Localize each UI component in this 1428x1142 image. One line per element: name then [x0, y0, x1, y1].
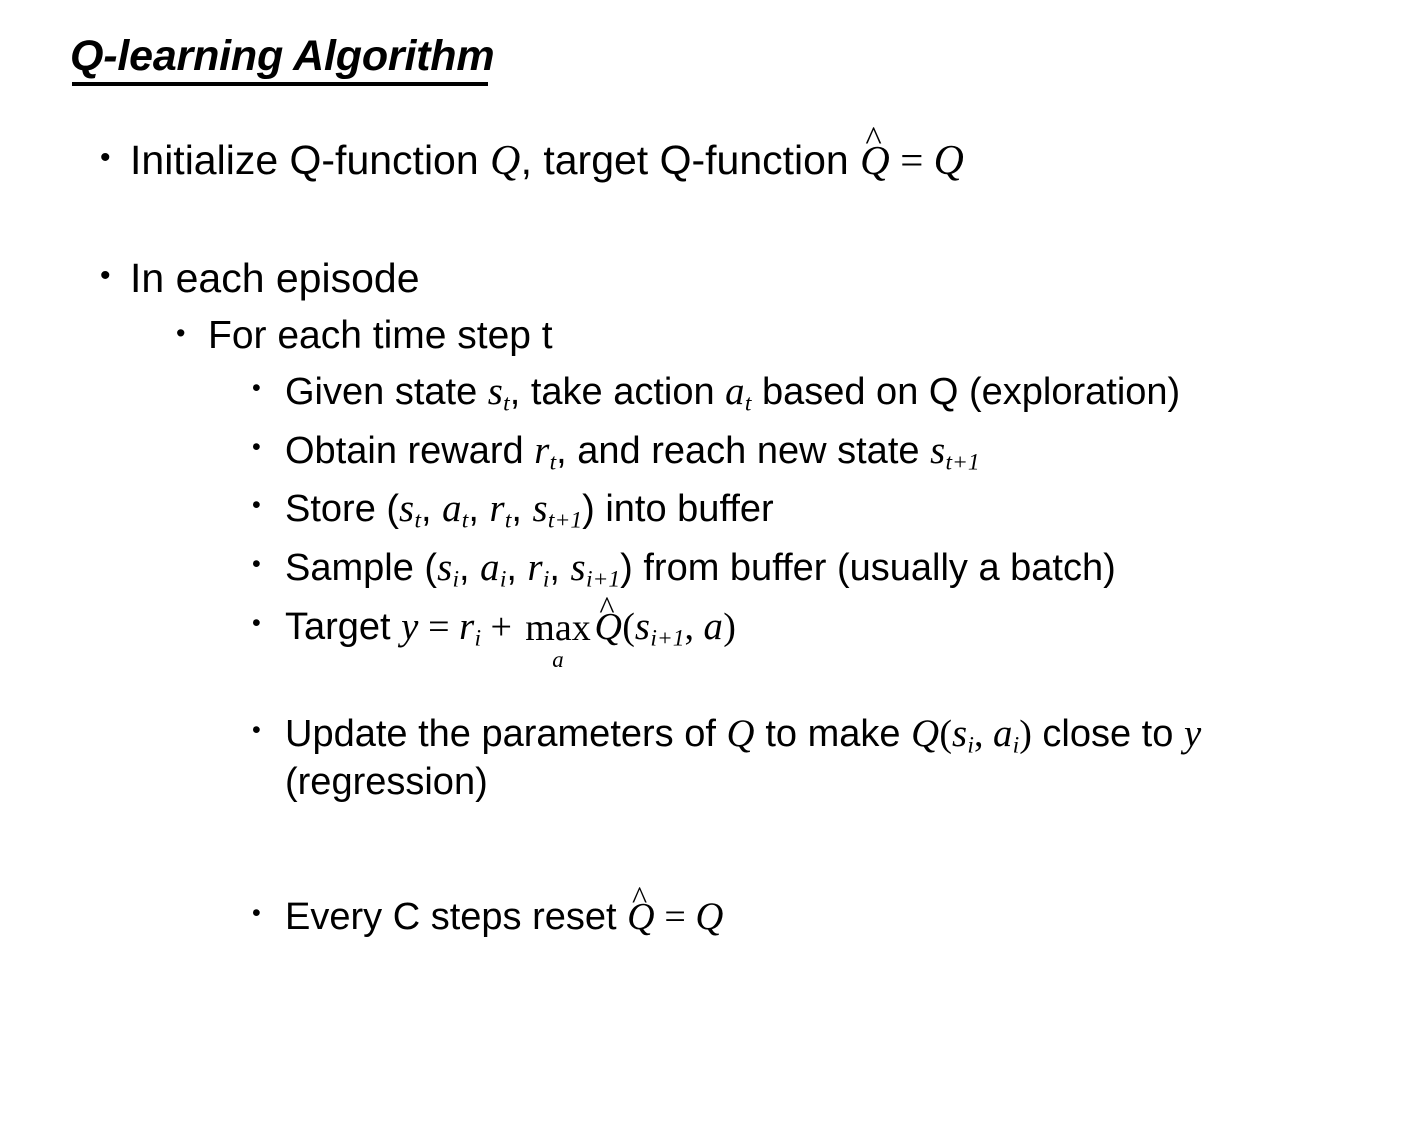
math-paren-close: ) [1019, 713, 1032, 755]
math-q-rhs: Q [934, 138, 965, 184]
text-run: , [549, 547, 570, 589]
bullet-glyph-icon: • [252, 545, 285, 584]
spacer [0, 806, 1428, 894]
bullet-store-text: Store (st, at, rt, st+1) into buffer [285, 486, 1395, 535]
spacer [0, 359, 1428, 369]
text-run: Sample ( [285, 547, 437, 589]
math-s1: s [437, 546, 452, 589]
math-s2-subscript: i+1 [586, 567, 620, 593]
math-comma: , [974, 713, 993, 755]
text-run: , take action [510, 371, 725, 413]
text-run: Every C steps reset [285, 896, 627, 938]
bullet-initialize: • Initialize Q-function Q, target Q-func… [0, 136, 1428, 186]
math-paren-open: ( [939, 713, 952, 755]
hat-accent-icon: ^ [865, 122, 882, 157]
math-paren-open: ( [622, 606, 635, 648]
bullet-target: • Target y = ri + maxa^Q(si+1, a) [0, 604, 1428, 671]
text-run: , [511, 488, 532, 530]
spacer [0, 476, 1428, 486]
bullet-store: • Store (st, at, rt, st+1) into buffer [0, 486, 1428, 535]
math-s-subscript: i+1 [650, 626, 684, 652]
math-y: y [401, 605, 419, 648]
spacer [0, 186, 1428, 254]
bullet-update-parameters-text: Update the parameters of Q to make Q(si,… [285, 711, 1395, 805]
math-s: s [635, 605, 650, 648]
spacer [0, 303, 1428, 313]
math-s-subscript: t+1 [945, 449, 979, 475]
math-max-subscript: a [552, 649, 563, 672]
text-run: based on Q (exploration) [751, 371, 1180, 413]
math-equals: = [890, 137, 934, 183]
bullet-initialize-text: Initialize Q-function Q, target Q-functi… [130, 136, 1428, 186]
bullet-glyph-icon: • [176, 313, 208, 354]
bullet-glyph-icon: • [100, 136, 130, 180]
text-run: ) into buffer [582, 488, 774, 530]
math-max-word: max [525, 609, 590, 647]
title-underline [72, 82, 488, 86]
text-run: Update the parameters of [285, 713, 726, 755]
math-s: s [930, 429, 945, 472]
bullet-target-text: Target y = ri + maxa^Q(si+1, a) [285, 604, 1395, 671]
bullet-obtain-reward-text: Obtain reward rt, and reach new state st… [285, 428, 1395, 477]
bullet-every-c-steps-text: Every C steps reset ^Q = Q [285, 894, 1395, 941]
spacer [0, 535, 1428, 545]
bullet-sample: • Sample (si, ai, ri, si+1) from buffer … [0, 545, 1428, 594]
slide-body: • Initialize Q-function Q, target Q-func… [0, 136, 1428, 940]
bullet-glyph-icon: • [252, 894, 285, 933]
bullet-sample-text: Sample (si, ai, ri, si+1) from buffer (u… [285, 545, 1395, 594]
slide-canvas: Q-learning Algorithm • Initialize Q-func… [0, 0, 1428, 1142]
text-run: , target Q-function [521, 137, 861, 183]
math-a: a [725, 370, 745, 413]
text-run: , [506, 547, 527, 589]
math-a: a [704, 605, 724, 648]
math-paren-close: ) [723, 606, 736, 648]
text-run: to make [755, 713, 911, 755]
text-run: Store ( [285, 488, 399, 530]
math-a1: a [480, 546, 500, 589]
math-q1: Q [726, 712, 754, 755]
math-a1: a [442, 487, 462, 530]
math-max-operator: maxa [525, 609, 590, 672]
math-q-hat: ^Q [595, 605, 623, 651]
spacer [0, 594, 1428, 604]
bullet-glyph-icon: • [252, 486, 285, 525]
hat-accent-icon: ^ [599, 592, 614, 624]
math-r: r [459, 605, 474, 648]
text-run: close to [1032, 713, 1184, 755]
bullet-for-each-time-step-text: For each time step t [208, 313, 1428, 359]
bullet-in-each-episode: • In each episode [0, 254, 1428, 302]
text-run: , [468, 488, 489, 530]
text-run: Initialize Q-function [130, 137, 490, 183]
text-run: , and reach new state [556, 430, 930, 472]
text-run: Target [285, 606, 401, 648]
text-run: , [459, 547, 480, 589]
math-s1: s [399, 487, 414, 530]
math-q: Q [490, 138, 521, 184]
math-comma: , [685, 606, 704, 648]
math-y: y [1184, 712, 1202, 755]
bullet-every-c-steps: • Every C steps reset ^Q = Q [0, 894, 1428, 941]
math-r1: r [489, 487, 504, 530]
bullet-update-parameters: • Update the parameters of Q to make Q(s… [0, 711, 1428, 805]
math-equals: = [655, 896, 695, 938]
spacer [0, 671, 1428, 711]
bullet-for-each-time-step: • For each time step t [0, 313, 1428, 359]
hat-accent-icon: ^ [632, 882, 647, 914]
math-s2: s [533, 487, 548, 530]
math-r1: r [527, 546, 542, 589]
text-run: Obtain reward [285, 430, 534, 472]
bullet-glyph-icon: • [252, 369, 285, 408]
math-s2: s [571, 546, 586, 589]
math-q-rhs: Q [695, 895, 723, 938]
bullet-glyph-icon: • [252, 428, 285, 467]
bullet-glyph-icon: • [100, 254, 130, 298]
math-s: s [952, 712, 967, 755]
bullet-given-state-text: Given state st, take action at based on … [285, 369, 1395, 418]
text-run: , [421, 488, 442, 530]
math-r: r [534, 429, 549, 472]
bullet-glyph-icon: • [252, 711, 285, 750]
math-plus: + [481, 606, 521, 648]
math-q2: Q [911, 712, 939, 755]
text-run: (regression) [285, 761, 488, 803]
text-run: Given state [285, 371, 488, 413]
bullet-obtain-reward: • Obtain reward rt, and reach new state … [0, 428, 1428, 477]
spacer [0, 418, 1428, 428]
math-q-hat: ^Q [627, 895, 655, 941]
math-a: a [993, 712, 1013, 755]
text-run: ) from buffer (usually a batch) [620, 547, 1116, 589]
page-title: Q-learning Algorithm [70, 34, 494, 79]
math-s2-subscript: t+1 [548, 508, 582, 534]
bullet-in-each-episode-text: In each episode [130, 254, 1428, 302]
math-q-hat: ^Q [860, 136, 890, 184]
math-equals: = [419, 606, 459, 648]
math-s: s [488, 370, 503, 413]
bullet-glyph-icon: • [252, 604, 285, 643]
bullet-given-state: • Given state st, take action at based o… [0, 369, 1428, 418]
